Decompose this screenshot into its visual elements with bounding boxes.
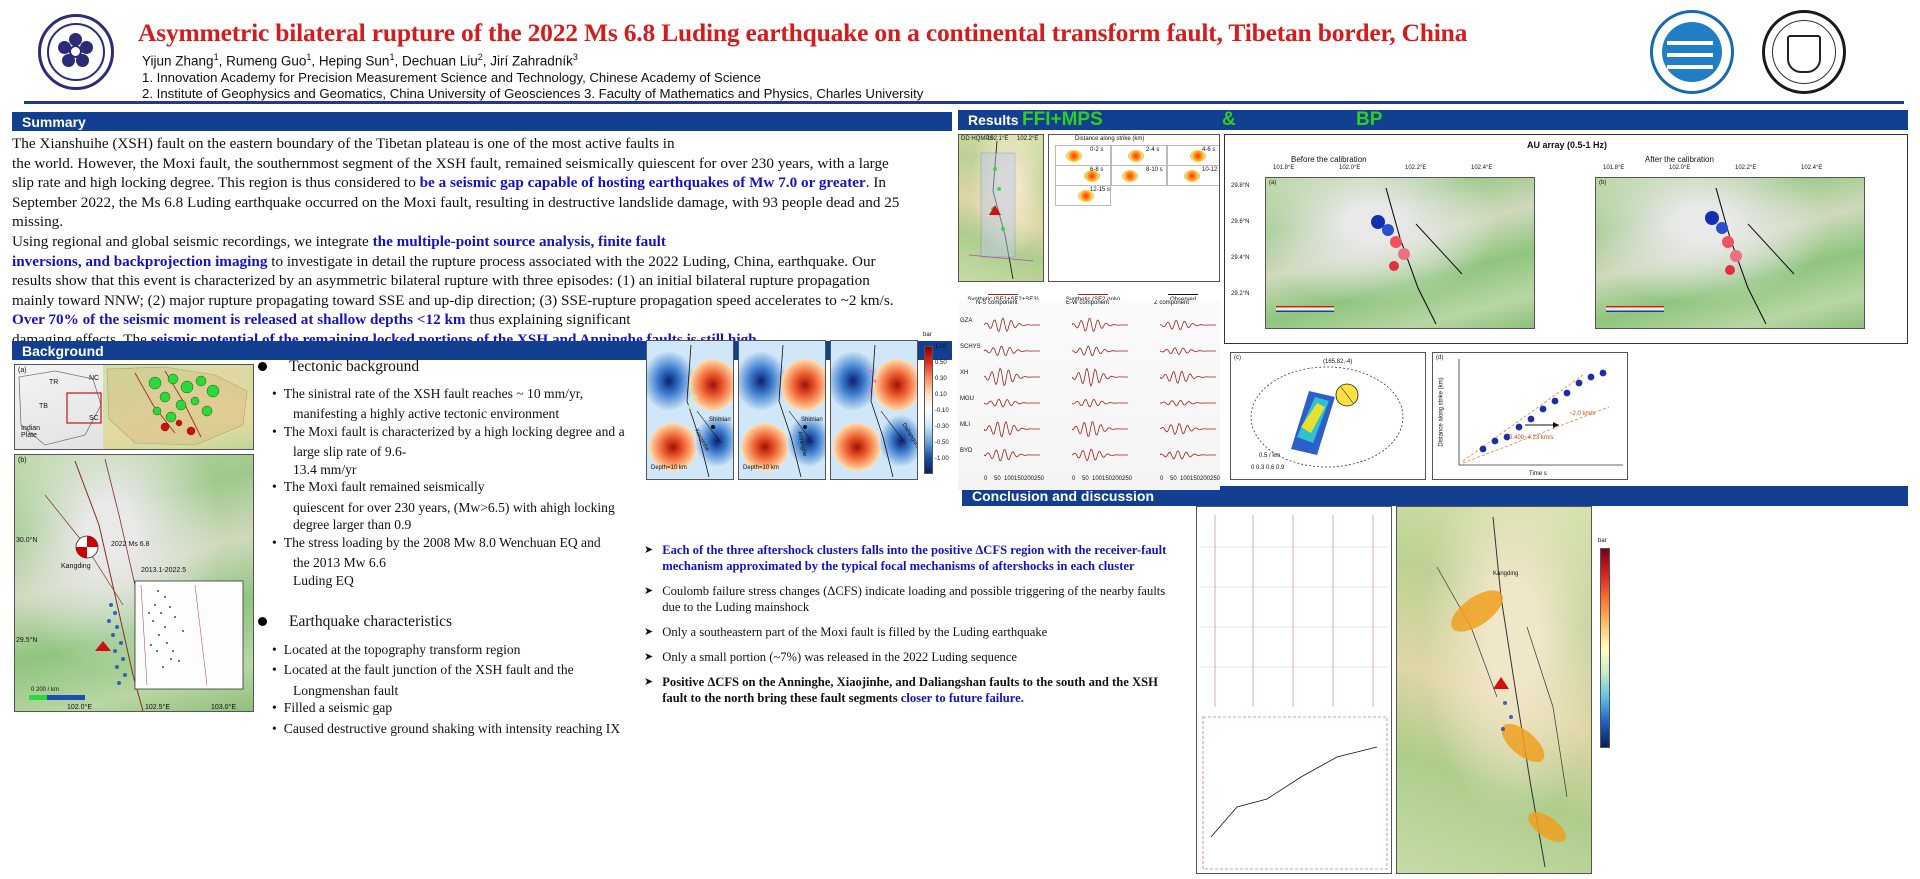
summary-line-1: The Xianshuihe (XSH) fault on the easter… bbox=[12, 134, 950, 154]
waveform-station-label: XH bbox=[960, 370, 968, 376]
bp-latitude-tick: 29.8°N bbox=[1231, 183, 1249, 189]
mps-snapshot-time-label: 8-10 s bbox=[1146, 167, 1163, 173]
section-title-results: Results bbox=[968, 112, 1019, 128]
waveform-trace bbox=[1160, 314, 1216, 336]
summary-line-10: Over 70% of the seismic moment is releas… bbox=[12, 310, 950, 330]
section-bar-summary: Summary bbox=[12, 112, 952, 131]
bullet-square-icon: • bbox=[272, 385, 277, 403]
mps-snapshot-cell: 4-6 s bbox=[1167, 145, 1220, 166]
map-place-kangding: Kangding bbox=[61, 563, 91, 570]
map-event-mainshock: 2022 Ms 6.8 bbox=[111, 541, 150, 548]
section-title-background: Background bbox=[22, 343, 104, 359]
summary-line-9: mainly toward NNW; (2) major rupture pro… bbox=[12, 291, 950, 311]
arrow-bullet-icon: ➤ bbox=[644, 542, 653, 574]
bp-latitude-tick: 29.2°N bbox=[1231, 291, 1249, 297]
map-region-nc: NC bbox=[89, 375, 99, 382]
waveform-station-label: MLI bbox=[960, 422, 970, 428]
colorbar-tick: -1.00 bbox=[935, 456, 949, 462]
poster-header: Asymmetric bilateral rupture of the 2022… bbox=[0, 0, 1920, 103]
charles-university-logo bbox=[1762, 10, 1846, 94]
ffi-map-lon-2: 102.2°E bbox=[1017, 136, 1038, 142]
arrow-bullet-icon: ➤ bbox=[644, 649, 653, 665]
waveform-time-tick: 0 bbox=[1160, 476, 1163, 482]
figure-backprojection: AU array (0.5-1 Hz) Before the calibrati… bbox=[1224, 134, 1908, 344]
waveform-trace bbox=[984, 340, 1040, 362]
waveform-trace bbox=[1072, 340, 1128, 362]
bullet-square-icon: • bbox=[272, 720, 277, 738]
coulomb-panel-3: Daliangshan bbox=[830, 340, 918, 480]
bp-c-depth-ticks: 0 0.3 0.6 0.9 bbox=[1251, 465, 1284, 471]
bp-longitude-tick: 102.4°E bbox=[1801, 165, 1822, 171]
map-region-tb: TB bbox=[39, 403, 48, 410]
mps-snapshot-grid: Distance along strike (km) 0-2 s2-4 s4-6… bbox=[1048, 134, 1220, 282]
mps-slip-blob bbox=[1066, 150, 1082, 162]
coulomb-panel-2: Depth=10 km Anninghe Shimian bbox=[738, 340, 826, 480]
page-title: Asymmetric bilateral rupture of the 2022… bbox=[138, 18, 1638, 48]
bp-longitude-tick: 102.0°E bbox=[1339, 165, 1360, 171]
igg-logo bbox=[1650, 10, 1734, 94]
ffi-map-panel: DD HQMPS 102.1°E 102.2°E bbox=[958, 134, 1044, 282]
coulomb-depth-label-2: Depth=10 km bbox=[743, 465, 779, 471]
characteristic-bullet-continuation: Longmenshan fault bbox=[293, 682, 658, 700]
figure-regional-map-a: (a) TR NC TB SC Indian Plate bbox=[14, 364, 254, 450]
waveform-time-tick: 100 bbox=[1092, 476, 1102, 482]
tectonic-bullet-item: •The stress loading by the 2008 Mw 8.0 W… bbox=[272, 534, 658, 552]
waveform-time-tick: 100 bbox=[1180, 476, 1190, 482]
bullet-dot-icon bbox=[258, 617, 267, 626]
characteristic-bullet-text: Caused destructive ground shaking with i… bbox=[284, 720, 620, 738]
mps-snapshot-cell: 10-12 s bbox=[1167, 165, 1220, 186]
bp-panel-d-label: (d) bbox=[1436, 355, 1443, 361]
summary-line-4: September 2022, the Ms 6.8 Luding earthq… bbox=[12, 193, 950, 213]
mps-slip-blob bbox=[1122, 170, 1138, 182]
conclusion-item: ➤Each of the three aftershock clusters f… bbox=[644, 542, 1184, 574]
waveform-trace bbox=[984, 314, 1040, 336]
waveform-time-tick: 200 bbox=[1200, 476, 1210, 482]
coulomb-colorbar bbox=[924, 346, 933, 474]
bp-d-ylabel: Distance along strike (km) bbox=[1439, 377, 1445, 446]
map-label-b: (b) bbox=[18, 457, 27, 464]
bp-panel-c-label: (c) bbox=[1234, 355, 1241, 361]
figure-bp-rupture-speed-d: (d) Distance along strike (km) Time s 0.… bbox=[1432, 352, 1628, 480]
tectonic-bullet-continuation: 13.4 mm/yr bbox=[293, 461, 658, 479]
mps-snapshot-cell: 8-10 s bbox=[1111, 165, 1167, 186]
tectonic-bullet-continuation: manifesting a highly active tectonic env… bbox=[293, 405, 658, 423]
bp-colorbar-after bbox=[1606, 306, 1664, 312]
mps-snapshot-time-label: 0-2 s bbox=[1090, 147, 1103, 153]
tectonic-bullet-continuation: degree larger than 0.9 bbox=[293, 516, 658, 534]
mps-slip-blob bbox=[1184, 170, 1200, 182]
background-heading-tectonic: Tectonic background bbox=[258, 358, 658, 376]
results-label-ampersand: & bbox=[1222, 109, 1236, 131]
waveform-trace bbox=[984, 418, 1040, 440]
waveform-trace bbox=[1072, 314, 1128, 336]
waveform-component-label: E-W component bbox=[1066, 300, 1109, 306]
bullet-square-icon: • bbox=[272, 534, 277, 552]
figure-luding-map-b: (b) Kangding 2022 Ms 6.8 2013.1-2022.5 3… bbox=[14, 454, 254, 712]
waveform-time-tick: 100 bbox=[1004, 476, 1014, 482]
bp-d-speed-2: ~2.0 km/s bbox=[1569, 411, 1595, 417]
waveform-time-tick: 150 bbox=[1190, 476, 1200, 482]
mps-snapshot-cell: 6-8 s bbox=[1055, 165, 1111, 186]
legend-line-swatch bbox=[988, 294, 1018, 295]
waveform-station-label: BYD bbox=[960, 448, 972, 454]
map-catalog-period: 2013.1-2022.5 bbox=[141, 567, 186, 574]
mps-slip-blob bbox=[1128, 150, 1144, 162]
waveform-station-label: GZA bbox=[960, 318, 972, 324]
summary-line-8: results show that this event is characte… bbox=[12, 271, 950, 291]
tectonic-bullet-continuation: quiescent for over 230 years, (Mw>6.5) w… bbox=[293, 499, 658, 517]
conclusion-item-text: Only a southeastern part of the Moxi fau… bbox=[662, 624, 1047, 640]
bp-latitude-tick: 29.4°N bbox=[1231, 255, 1249, 261]
arrow-bullet-icon: ➤ bbox=[644, 583, 653, 615]
legend-line-swatch bbox=[1168, 294, 1198, 295]
bullet-square-icon: • bbox=[272, 478, 277, 496]
results-label-ffi-mps: FFI+MPS bbox=[1022, 109, 1103, 131]
map-region-tr: TR bbox=[49, 379, 58, 386]
waveform-time-tick: 150 bbox=[1014, 476, 1024, 482]
conclusion-item: ➤Only a small portion (~7%) was released… bbox=[644, 649, 1184, 665]
tectonic-bullet-item: •The Moxi fault is characterized by a hi… bbox=[272, 423, 658, 441]
mps-snapshot-cell: 0-2 s bbox=[1055, 145, 1111, 166]
colorbar-tick: -0.50 bbox=[935, 440, 949, 446]
bullet-square-icon: • bbox=[272, 699, 277, 717]
ffi-map-lon-1: 102.1°E bbox=[987, 136, 1008, 142]
mps-axis-note: Distance along strike (km) bbox=[1075, 136, 1144, 142]
waveform-time-tick: 250 bbox=[1122, 476, 1132, 482]
conclusion-colorbar-unit: bar bbox=[1598, 538, 1607, 544]
tectonic-bullet-list: •The sinistral rate of the XSH fault rea… bbox=[258, 385, 658, 590]
conclusion-colorbar bbox=[1600, 548, 1610, 748]
waveform-time-tick: 0 bbox=[1072, 476, 1075, 482]
bp-longitude-tick: 102.4°E bbox=[1471, 165, 1492, 171]
summary-line-6: Using regional and global seismic record… bbox=[12, 232, 950, 252]
bp-array-title: AU array (0.5-1 Hz) bbox=[1527, 140, 1607, 150]
bullet-square-icon: • bbox=[272, 661, 277, 679]
summary-line-5: missing. bbox=[12, 212, 950, 232]
waveform-trace bbox=[1160, 366, 1216, 388]
map-region-sc: SC bbox=[89, 415, 99, 422]
colorbar-tick: 0.30 bbox=[935, 376, 947, 382]
bp-c-scale-label: 0.5 / km bbox=[1259, 453, 1280, 459]
map-lon-tick-2: 102.5°E bbox=[145, 704, 170, 711]
figure-ffi-mps: DD HQMPS 102.1°E 102.2°E Distance along … bbox=[958, 134, 1220, 314]
waveform-trace bbox=[1072, 444, 1128, 466]
tectonic-bullet-text: The Moxi fault is characterized by a hig… bbox=[284, 423, 625, 441]
waveform-time-tick: 50 bbox=[1082, 476, 1089, 482]
bp-d-xlabel: Time s bbox=[1529, 471, 1547, 477]
waveform-component-label: N-S component bbox=[976, 300, 1018, 306]
header-divider bbox=[24, 101, 1904, 104]
legend-line-swatch bbox=[1078, 294, 1108, 295]
characteristic-bullet-item: •Filled a seismic gap bbox=[272, 699, 658, 717]
bp-longitude-tick: 102.2°E bbox=[1405, 165, 1426, 171]
section-title-summary: Summary bbox=[22, 114, 86, 130]
colorbar-tick: -0.30 bbox=[935, 424, 949, 430]
map-scale-bar-label: 0 200 / km bbox=[31, 687, 59, 693]
bp-before-calibration-label: Before the calibration bbox=[1291, 155, 1367, 164]
figure-waveform-fits: N-S componentE-W componentZ component GZ… bbox=[958, 300, 1220, 490]
conclusion-item: ➤Only a southeastern part of the Moxi fa… bbox=[644, 624, 1184, 640]
bp-longitude-tick: 101.8°E bbox=[1273, 165, 1294, 171]
bp-after-calibration-label: After the calibration bbox=[1645, 155, 1714, 164]
waveform-time-tick: 0 bbox=[984, 476, 987, 482]
conclusion-item-text: Each of the three aftershock clusters fa… bbox=[662, 542, 1184, 574]
section-title-conclusion: Conclusion and discussion bbox=[972, 488, 1154, 504]
map-lat-tick-1: 30.0°N bbox=[16, 537, 37, 544]
poster-root: Asymmetric bilateral rupture of the 2022… bbox=[0, 0, 1920, 879]
characteristic-bullet-text: Located at the fault junction of the XSH… bbox=[284, 661, 574, 679]
figure-fault-segment-table bbox=[1196, 506, 1392, 874]
conclusion-item-highlight: closer to future failure. bbox=[901, 691, 1024, 705]
waveform-time-tick: 50 bbox=[994, 476, 1001, 482]
mps-snapshot-cell: 2-4 s bbox=[1111, 145, 1167, 166]
bullet-square-icon: • bbox=[272, 423, 277, 441]
waveform-trace bbox=[1072, 418, 1128, 440]
figure-bp-slip-model-c: (c) (165.82,-4) 0.5 / km 0 0.3 0.6 0.9 bbox=[1230, 352, 1426, 480]
summary-line-7: inversions, and backprojection imaging t… bbox=[12, 252, 950, 272]
tectonic-bullet-continuation: the 2013 Mw 6.6 bbox=[293, 554, 658, 572]
tectonic-bullet-continuation: large slip rate of 9.6- bbox=[293, 443, 658, 461]
conclusion-item: ➤Coulomb failure stress changes (ΔCFS) i… bbox=[644, 583, 1184, 615]
characteristic-bullet-item: •Located at the fault junction of the XS… bbox=[272, 661, 658, 679]
bp-panel-b-label: (b) bbox=[1599, 180, 1606, 186]
bp-longitude-tick: 102.2°E bbox=[1735, 165, 1756, 171]
tectonic-bullet-continuation: Luding EQ bbox=[293, 572, 658, 590]
regional-map-kangding-label: Kangding bbox=[1493, 571, 1518, 577]
mps-snapshot-time-label: 6-8 s bbox=[1090, 167, 1103, 173]
bp-d-speed-1: 0.400~4.23 km/s bbox=[1509, 435, 1554, 441]
bp-c-value-label: (165.82,-4) bbox=[1323, 359, 1352, 365]
tectonic-bullet-text: The stress loading by the 2008 Mw 8.0 We… bbox=[284, 534, 601, 552]
affiliation-1: 1. Innovation Academy for Precision Meas… bbox=[142, 70, 761, 85]
conclusion-bullets: ➤Each of the three aftershock clusters f… bbox=[644, 542, 1184, 715]
coulomb-panel-1: Depth=10 km Xiaojinhe Shimian bbox=[646, 340, 734, 480]
map-lon-tick-3: 103.0°E bbox=[211, 704, 236, 711]
background-bullets: Tectonic background •The sinistral rate … bbox=[258, 358, 658, 740]
conclusion-item: ➤Positive ΔCFS on the Anninghe, Xiaojinh… bbox=[644, 674, 1184, 706]
colorbar-tick: 0.50 bbox=[935, 360, 947, 366]
waveform-time-tick: 250 bbox=[1210, 476, 1220, 482]
tectonic-bullet-item: •The sinistral rate of the XSH fault rea… bbox=[272, 385, 658, 403]
summary-text: The Xianshuihe (XSH) fault on the easter… bbox=[12, 134, 950, 350]
map-label-a: (a) bbox=[18, 367, 27, 374]
bp-latitude-tick: 29.6°N bbox=[1231, 219, 1249, 225]
arrow-bullet-icon: ➤ bbox=[644, 624, 653, 640]
waveform-trace bbox=[1160, 418, 1216, 440]
waveform-trace bbox=[1160, 392, 1216, 414]
colorbar-tick: 0.10 bbox=[935, 392, 947, 398]
waveform-trace bbox=[1160, 340, 1216, 362]
characteristic-bullet-item: •Located at the topography transform reg… bbox=[272, 641, 658, 659]
waveform-station-label: SCHYS bbox=[960, 344, 981, 350]
waveform-trace bbox=[984, 392, 1040, 414]
affiliation-2: 2. Institute of Geophysics and Geomatics… bbox=[142, 86, 923, 101]
tectonic-bullet-item: •The Moxi fault remained seismically bbox=[272, 478, 658, 496]
waveform-trace bbox=[1160, 444, 1216, 466]
characteristic-bullet-text: Filled a seismic gap bbox=[284, 699, 392, 717]
colorbar-tick: 1.00 bbox=[935, 344, 947, 350]
summary-line-3: slip rate and high locking degree. This … bbox=[12, 173, 950, 193]
characteristics-bullet-list: •Located at the topography transform reg… bbox=[258, 641, 658, 738]
waveform-trace bbox=[1072, 392, 1128, 414]
bp-longitude-tick: 102.0°E bbox=[1669, 165, 1690, 171]
summary-line-2: the world. However, the Moxi fault, the … bbox=[12, 154, 950, 174]
waveform-time-tick: 150 bbox=[1102, 476, 1112, 482]
waveform-time-tick: 50 bbox=[1170, 476, 1177, 482]
mps-snapshot-time-label: 4-6 s bbox=[1202, 147, 1215, 153]
waveform-trace bbox=[1072, 366, 1128, 388]
waveform-trace bbox=[984, 444, 1040, 466]
arrow-bullet-icon: ➤ bbox=[644, 674, 653, 706]
waveform-trace bbox=[984, 366, 1040, 388]
results-label-bp: BP bbox=[1356, 109, 1382, 131]
map-lat-tick-2: 29.5°N bbox=[16, 637, 37, 644]
bp-map-before: (a) bbox=[1265, 177, 1535, 329]
bullet-square-icon: • bbox=[272, 641, 277, 659]
bp-longitude-tick: 101.8°E bbox=[1603, 165, 1624, 171]
coulomb-fault-shimian-2: Shimian bbox=[801, 417, 823, 423]
figure-coulomb-stress-triplet: Depth=10 km Xiaojinhe Shimian Depth=10 k… bbox=[646, 340, 952, 488]
figure-regional-coulomb-map: Kangding bbox=[1396, 506, 1592, 874]
mps-snapshot-time-label: 2-4 s bbox=[1146, 147, 1159, 153]
mps-snapshot-cell: 12-15 s bbox=[1055, 185, 1111, 206]
mps-snapshot-time-label: 12-15 s bbox=[1090, 187, 1110, 193]
waveform-time-tick: 200 bbox=[1112, 476, 1122, 482]
coulomb-depth-label-1: Depth=10 km bbox=[651, 465, 687, 471]
waveform-time-tick: 250 bbox=[1034, 476, 1044, 482]
conclusion-item-text: Coulomb failure stress changes (ΔCFS) in… bbox=[662, 583, 1184, 615]
characteristic-bullet-text: Located at the topography transform regi… bbox=[284, 641, 521, 659]
background-heading-characteristics: Earthquake characteristics bbox=[258, 613, 658, 631]
map-lon-tick-1: 102.0°E bbox=[67, 704, 92, 711]
waveform-station-label: MGU bbox=[960, 396, 974, 402]
coulomb-fault-shimian-1: Shimian bbox=[709, 417, 731, 423]
waveform-component-label: Z component bbox=[1154, 300, 1189, 306]
bp-panel-a-label: (a) bbox=[1269, 180, 1276, 186]
characteristic-bullet-item: •Caused destructive ground shaking with … bbox=[272, 720, 658, 738]
mps-snapshot-time-label: 10-12 s bbox=[1202, 167, 1220, 173]
cas-logo bbox=[38, 14, 114, 90]
colorbar-tick: -0.10 bbox=[935, 408, 949, 414]
tectonic-bullet-text: The Moxi fault remained seismically bbox=[284, 478, 485, 496]
tectonic-bullet-text: The sinistral rate of the XSH fault reac… bbox=[284, 385, 583, 403]
map-region-indian-plate: Indian Plate bbox=[21, 425, 55, 439]
conclusion-item-text: Positive ΔCFS on the Anninghe, Xiaojinhe… bbox=[662, 674, 1184, 706]
author-list: Yijun Zhang1, Rumeng Guo1, Heping Sun1, … bbox=[142, 52, 578, 69]
waveform-time-tick: 200 bbox=[1024, 476, 1034, 482]
bullet-dot-icon bbox=[258, 362, 267, 371]
bp-map-after: (b) bbox=[1595, 177, 1865, 329]
bp-colorbar-before bbox=[1276, 306, 1334, 312]
coulomb-colorbar-unit: bar bbox=[923, 332, 932, 338]
conclusion-item-text: Only a small portion (~7%) was released … bbox=[662, 649, 1017, 665]
